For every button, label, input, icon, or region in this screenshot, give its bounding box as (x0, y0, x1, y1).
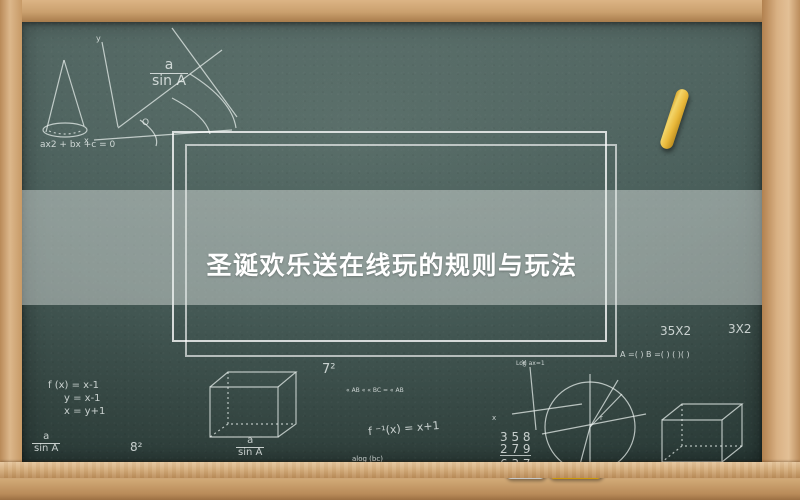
frame-top-rail (0, 0, 800, 22)
cone-diagram (43, 60, 87, 137)
cube-diagram-left (210, 372, 296, 437)
blackboard-banner: asin A ax2 + bx +c = 0 y x O 35X2 3X2 A … (0, 0, 800, 500)
axis-small-right (512, 367, 582, 430)
chalk-tray-ledge (0, 462, 800, 478)
cube-diagram-right (662, 404, 742, 462)
circle-radius-diagram (542, 374, 646, 462)
frame-left-rail (0, 0, 22, 500)
frame-right-rail (762, 0, 800, 500)
angle-arc-diagram (94, 28, 237, 146)
page-title: 圣诞欢乐送在线玩的规则与玩法 (22, 207, 762, 322)
